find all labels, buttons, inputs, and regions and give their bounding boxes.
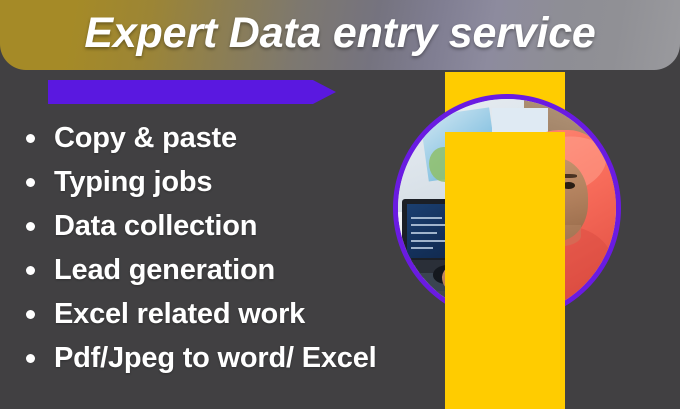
list-item: Typing jobs [18, 160, 438, 204]
header-banner: Expert Data entry service [0, 0, 680, 70]
list-item: Excel related work [18, 292, 438, 336]
list-item-label: Copy & paste [54, 122, 237, 155]
bullet-dot-icon [26, 266, 35, 275]
bullet-dot-icon [26, 354, 35, 363]
list-item: Lead generation [18, 248, 438, 292]
list-item-label: Pdf/Jpeg to word/ Excel [54, 342, 377, 375]
photo-eye-right [562, 182, 575, 189]
promo-banner-canvas: Copy & paste Typing jobs Data collection… [0, 0, 680, 409]
service-list: Copy & paste Typing jobs Data collection… [18, 116, 438, 380]
photo-eyebrow-left [529, 176, 546, 179]
photo-screen-avatar [457, 212, 477, 253]
list-item: Data collection [18, 204, 438, 248]
bullet-dot-icon [26, 310, 35, 319]
photo-eyebrow-right [559, 174, 576, 177]
list-item: Pdf/Jpeg to word/ Excel [18, 336, 438, 380]
page-title: Expert Data entry service [0, 0, 680, 70]
bullet-dot-icon [26, 134, 35, 143]
bullet-dot-icon [26, 222, 35, 231]
list-item: Copy & paste [18, 116, 438, 160]
photo-poster-top [492, 108, 549, 136]
list-item-label: Data collection [54, 210, 257, 243]
photo-mouth [542, 217, 564, 222]
list-item-label: Lead generation [54, 254, 275, 287]
list-item-label: Typing jobs [54, 166, 212, 199]
purple-arrow-divider [48, 80, 336, 104]
photo-nose [546, 193, 555, 208]
list-item-label: Excel related work [54, 298, 305, 331]
bullet-dot-icon [26, 178, 35, 187]
